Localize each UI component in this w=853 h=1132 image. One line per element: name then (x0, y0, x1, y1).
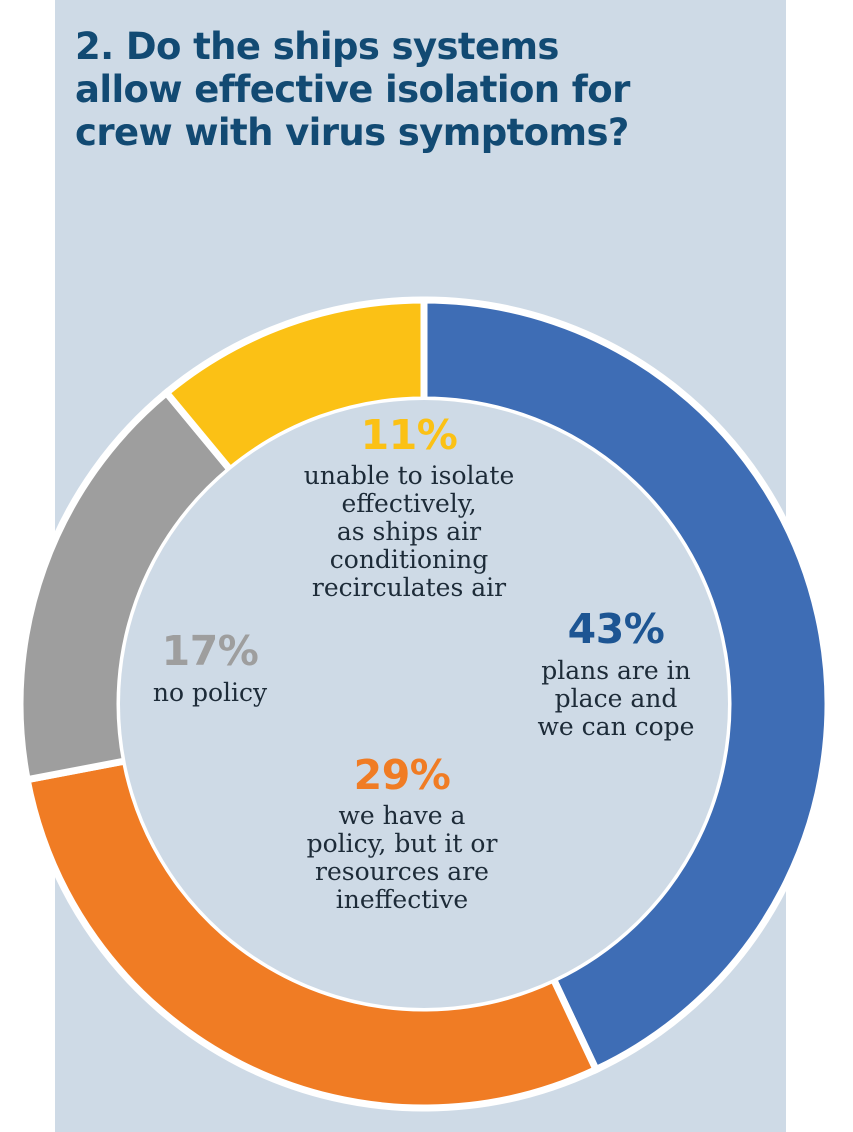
slice-percent-gray: 17% (120, 630, 300, 673)
slice-percent-orange: 29% (268, 754, 536, 797)
slice-label-gray: 17% no policy (120, 630, 300, 707)
slice-percent-blue: 43% (508, 608, 724, 651)
slice-description-orange: we have a policy, but it or resources ar… (268, 802, 536, 914)
slice-description-gray: no policy (120, 679, 300, 707)
slice-label-orange: 29% we have a policy, but it or resource… (268, 754, 536, 914)
slice-description-yellow: unable to isolate effectively, as ships … (264, 462, 554, 602)
slice-description-blue: plans are in place and we can cope (508, 657, 724, 741)
slice-percent-yellow: 11% (264, 414, 554, 457)
slice-label-blue: 43% plans are in place and we can cope (508, 608, 724, 741)
infographic-page: 2. Do the ships systems allow effective … (0, 0, 853, 1132)
slice-label-yellow: 11% unable to isolate effectively, as sh… (264, 414, 554, 602)
